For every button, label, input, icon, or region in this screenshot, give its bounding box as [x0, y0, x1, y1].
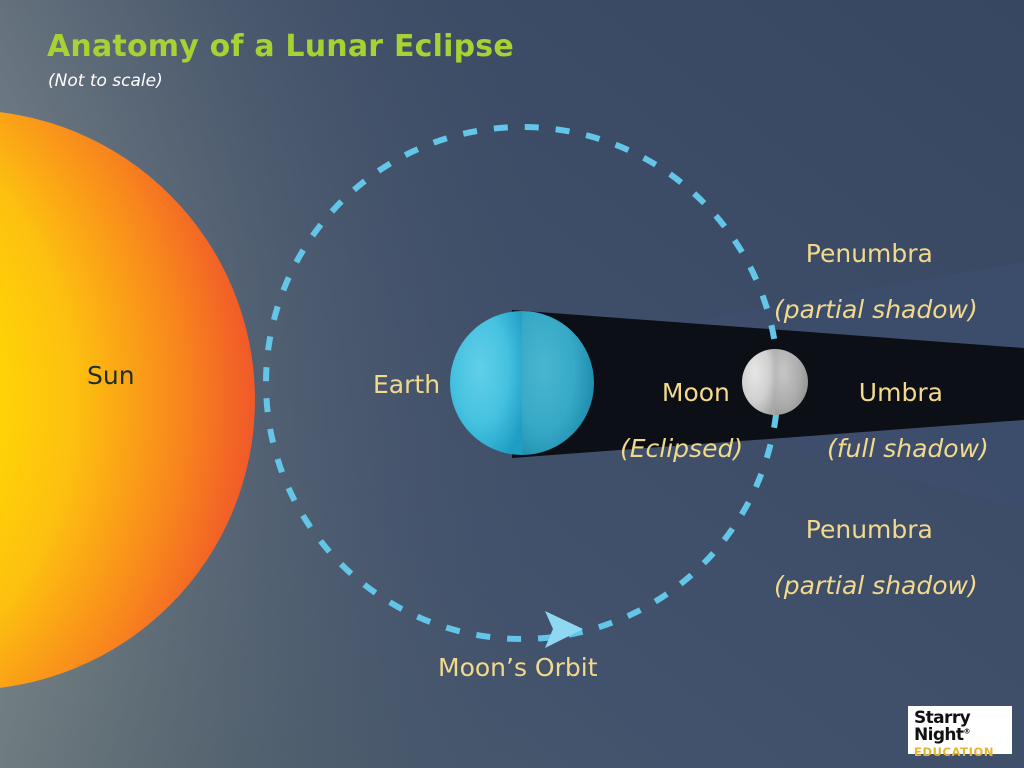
moon-label-main: Moon [662, 378, 730, 407]
penumbra-bottom-label-main: Penumbra [806, 515, 933, 544]
penumbra-bottom-label-sub: (partial shadow) [774, 572, 978, 600]
logo-wordmark: Starry Night® [914, 710, 1007, 744]
logo-subline: EDUCATION [914, 747, 1007, 759]
penumbra-bottom-label: Penumbra (partial shadow) [774, 488, 978, 656]
logo-wordmark-text: Starry Night [914, 708, 970, 745]
page-subtitle: (Not to scale) [48, 72, 163, 91]
moon-orbit-label: Moon’s Orbit [438, 654, 598, 682]
diagram-canvas: Anatomy of a Lunar Eclipse (Not to scale… [0, 0, 1024, 768]
moon-label: Moon (Eclipsed) [620, 351, 740, 519]
earth-body [450, 311, 594, 455]
moon-label-sub: (Eclipsed) [620, 435, 740, 463]
registered-trademark-icon: ® [963, 727, 969, 735]
sun-label: Sun [87, 362, 135, 390]
sun-body [0, 110, 255, 690]
earth-label: Earth [373, 371, 440, 399]
starry-night-education-logo: Starry Night® EDUCATION [908, 706, 1012, 754]
umbra-label-sub: (full shadow) [827, 435, 989, 463]
penumbra-top-label-sub: (partial shadow) [774, 296, 978, 324]
orbit-direction-arrow-icon [545, 611, 583, 648]
page-title: Anatomy of a Lunar Eclipse [47, 30, 514, 64]
penumbra-top-label: Penumbra (partial shadow) [774, 212, 978, 380]
penumbra-top-label-main: Penumbra [806, 239, 933, 268]
umbra-label-main: Umbra [859, 378, 943, 407]
